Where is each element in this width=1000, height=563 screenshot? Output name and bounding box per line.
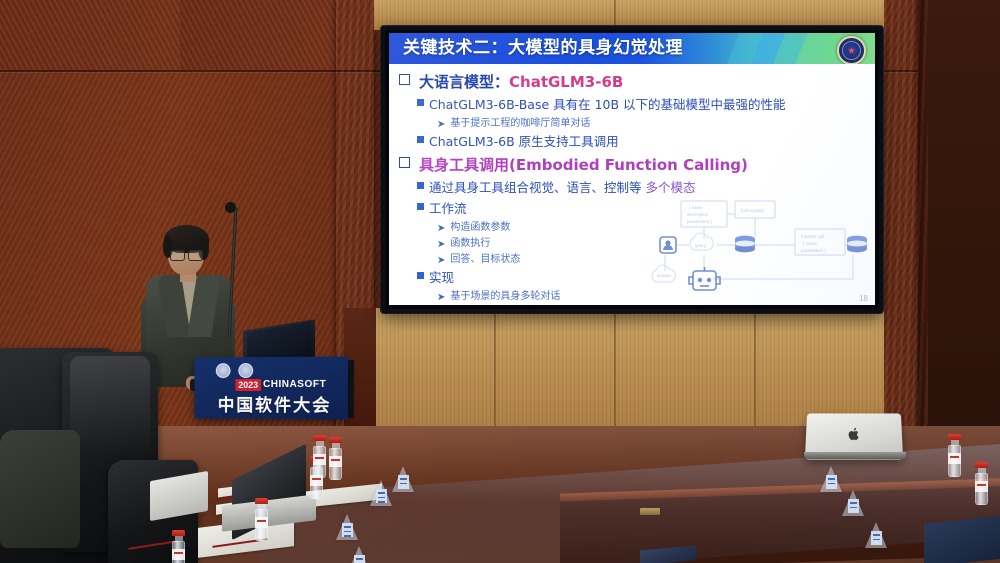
svg-text:function call: function call (801, 234, 824, 239)
hollow-square-bullet-icon (399, 74, 410, 85)
lectern-emblem-right-icon (238, 363, 253, 378)
name-card-holder (348, 546, 370, 563)
backpack (0, 430, 80, 548)
wall-light-band-lower (374, 308, 884, 426)
eyeglasses-icon (170, 250, 203, 259)
bullet-text: 通过具身工具组合视觉、语言、控制等 (429, 180, 645, 195)
svg-text:parameters }: parameters } (687, 219, 712, 224)
bullet-accent: (Embodied Function Calling) (509, 156, 748, 174)
wall-panel-top-mid (180, 0, 338, 70)
wall-far-right (928, 0, 1000, 430)
name-card-holder (336, 514, 358, 540)
svg-text:answer: answer (657, 273, 672, 278)
bullet-text: ChatGLM3-6B 原生支持工具调用 (429, 131, 619, 150)
slide-bullet-l1: 具身工具调用(Embodied Function Calling) (399, 153, 865, 176)
university-emblem-icon: ★ (837, 36, 866, 64)
bullet-text: 实现 (429, 267, 454, 286)
lectern-chinese-title: 中国软件大会 (218, 391, 332, 416)
svg-text:description: description (687, 212, 709, 217)
svg-text:query: query (695, 243, 707, 248)
database-icon (847, 236, 867, 253)
bullet-text: 大语言模型： (419, 73, 509, 91)
arrow-bullet-icon: ➤ (437, 293, 445, 303)
filled-square-bullet-icon (417, 182, 424, 189)
svg-text:{ name: { name (803, 241, 817, 246)
lectern-year-badge: 2023 (235, 379, 261, 391)
slide-title: 关键技术二：大模型的具身幻觉处理 (403, 34, 683, 63)
slide-bullet-l2: 通过具身工具组合视觉、语言、控制等 多个模态 (399, 176, 865, 197)
name-card-holder (370, 480, 392, 506)
chair-highlight (70, 356, 150, 456)
filled-square-bullet-icon (417, 203, 424, 210)
arrow-bullet-icon: ➤ (437, 224, 445, 234)
slide-bullet-l2: ChatGLM3-6B 原生支持工具调用 (399, 130, 865, 151)
water-bottle (172, 530, 185, 563)
presentation-display[interactable]: 关键技术二：大模型的具身幻觉处理 ★ 大语言模型：ChatGLM3-6B Cha… (381, 26, 883, 313)
arrow-bullet-icon: ➤ (437, 240, 445, 250)
bullet-text: 基于场景的具身多轮对话 (450, 287, 560, 302)
water-bottle (313, 435, 326, 478)
name-card-holder (842, 490, 864, 516)
slide-bullet-l2: ChatGLM3-6B-Base 具有在 10B 以下的基础模型中最强的性能 (399, 93, 865, 114)
arrow-bullet-icon: ➤ (437, 256, 445, 266)
function-calling-flow-diagram: { name description parameters } tool reg… (647, 199, 869, 299)
microphone-head-icon (225, 202, 236, 213)
svg-text:tool registry: tool registry (741, 208, 764, 213)
water-bottle (948, 434, 961, 477)
bullet-text: 构造函数参数 (450, 218, 510, 233)
macbook-base (804, 452, 906, 459)
slide-title-band: 关键技术二：大模型的具身幻觉处理 ★ (389, 33, 875, 64)
name-card-holder (392, 466, 414, 492)
filled-square-bullet-icon (417, 272, 424, 279)
wall-panel-top-left (0, 0, 180, 70)
svg-text:{ name: { name (689, 205, 703, 210)
water-bottle (975, 462, 988, 505)
user-avatar-icon (660, 237, 676, 253)
conference-lectern-sign: 2023 CHINASOFT 中国软件大会 (194, 356, 347, 419)
slide-body: 大语言模型：ChatGLM3-6B ChatGLM3-6B-Base 具有在 1… (389, 64, 875, 305)
lectern-english-title: CHINASOFT (263, 379, 326, 390)
database-icon (735, 236, 755, 253)
slide-bullet-l3: ➤ 基于提示工程的咖啡厅简单对话 (399, 114, 865, 130)
foreground-device (924, 516, 1000, 563)
filled-square-bullet-icon (417, 136, 424, 143)
bullet-text: ChatGLM3-6B-Base 具有在 10B 以下的基础模型中最强的性能 (429, 94, 786, 113)
water-bottle (329, 437, 342, 480)
name-card-holder (820, 466, 842, 492)
bullet-text: 具身工具调用 (419, 156, 509, 174)
slide-canvas: 关键技术二：大模型的具身幻觉处理 ★ 大语言模型：ChatGLM3-6B Cha… (389, 33, 875, 305)
water-bottle (255, 498, 268, 541)
robot-icon (689, 267, 720, 290)
slide-bullet-l1: 大语言模型：ChatGLM3-6B (399, 70, 865, 93)
bullet-text: 回答、目标状态 (450, 250, 520, 265)
bullet-text: 基于提示工程的咖啡厅简单对话 (450, 114, 590, 129)
screenshot-root: 关键技术二：大模型的具身幻觉处理 ★ 大语言模型：ChatGLM3-6B Cha… (0, 0, 1000, 563)
name-card-holder (865, 522, 887, 548)
bullet-accent: 多个模态 (645, 180, 695, 195)
svg-text:parameters }: parameters } (801, 248, 826, 253)
lectern-emblem-left-icon (216, 363, 231, 378)
slide-page-number: 18 (859, 294, 868, 303)
bullet-text: 基于顾客指令的目标状态生成 (450, 303, 580, 305)
bullet-accent: ChatGLM3-6B (509, 73, 623, 91)
hollow-square-bullet-icon (399, 157, 410, 168)
apple-logo-icon (847, 427, 860, 441)
arrow-bullet-icon: ➤ (437, 120, 445, 130)
bullet-text: 函数执行 (450, 234, 490, 249)
slide-bullet-l3: ➤ 基于顾客指令的目标状态生成 (399, 303, 865, 305)
filled-square-bullet-icon (417, 99, 424, 106)
bullet-text: 工作流 (429, 198, 467, 217)
